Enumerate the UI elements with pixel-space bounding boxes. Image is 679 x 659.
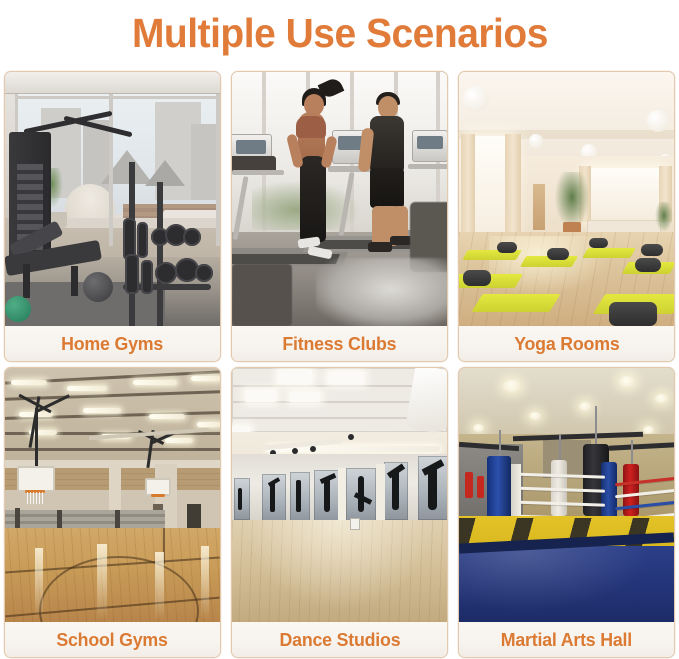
scenario-label-home-gyms: Home Gyms xyxy=(62,333,164,355)
scenario-label-dance-studios: Dance Studios xyxy=(279,629,400,651)
scenario-card-home-gyms[interactable]: Home Gyms xyxy=(4,71,221,362)
scenario-label-yoga-rooms: Yoga Rooms xyxy=(514,333,619,355)
scenario-caption-school-gyms: School Gyms xyxy=(5,622,220,657)
scenario-caption-yoga-rooms: Yoga Rooms xyxy=(459,326,674,361)
scenario-caption-home-gyms: Home Gyms xyxy=(5,326,220,361)
scenario-caption-fitness-clubs: Fitness Clubs xyxy=(232,326,447,361)
page-title: Multiple Use Scenarios xyxy=(132,10,548,57)
scenario-image-fitness-clubs xyxy=(232,72,447,326)
scenario-image-dance-studios xyxy=(232,368,447,622)
scenario-image-martial-arts-hall xyxy=(459,368,674,622)
scenario-label-martial-arts-hall: Martial Arts Hall xyxy=(501,629,632,651)
scenario-card-school-gyms[interactable]: School Gyms xyxy=(4,367,221,658)
page-header: Multiple Use Scenarios xyxy=(0,0,679,66)
scenario-grid: Home Gyms xyxy=(4,71,675,658)
scenario-collage-page: Multiple Use Scenarios xyxy=(0,0,679,659)
scenario-image-home-gyms xyxy=(5,72,220,326)
scenario-caption-dance-studios: Dance Studios xyxy=(232,622,447,657)
scenario-image-yoga-rooms xyxy=(459,72,674,326)
scenario-image-school-gyms xyxy=(5,368,220,622)
scenario-card-martial-arts-hall[interactable]: Martial Arts Hall xyxy=(458,367,675,658)
scenario-label-school-gyms: School Gyms xyxy=(57,629,168,651)
scenario-caption-martial-arts-hall: Martial Arts Hall xyxy=(459,622,674,657)
scenario-card-fitness-clubs[interactable]: Fitness Clubs xyxy=(231,71,448,362)
scenario-card-dance-studios[interactable]: Dance Studios xyxy=(231,367,448,658)
scenario-label-fitness-clubs: Fitness Clubs xyxy=(283,333,397,355)
scenario-card-yoga-rooms[interactable]: Yoga Rooms xyxy=(458,71,675,362)
